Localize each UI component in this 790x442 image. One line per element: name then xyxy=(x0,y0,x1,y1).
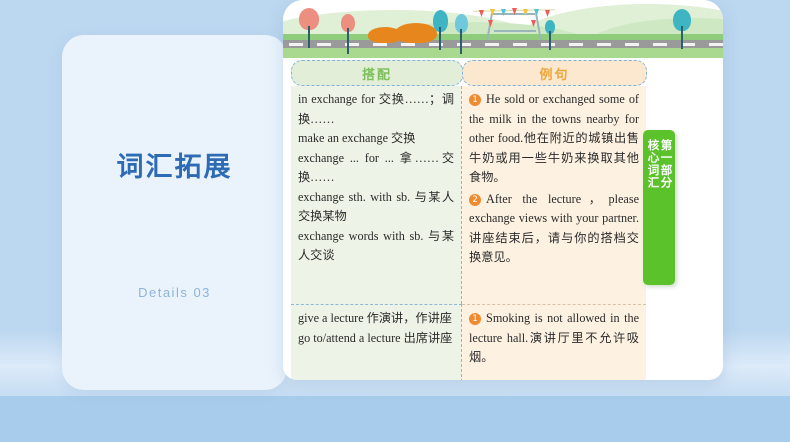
tree-icon xyxy=(455,14,468,40)
vocabulary-table: 搭配 例句 in exchange for 交换……；调换…… make an … xyxy=(291,60,646,380)
grass-lower-band xyxy=(283,48,723,58)
road-dash xyxy=(681,43,695,46)
section-side-tab[interactable]: 第一部分 核心词汇 xyxy=(643,130,675,285)
road-dash xyxy=(485,43,499,46)
side-tab-line-2: 核心词汇 xyxy=(647,139,660,189)
column-header-collocation: 搭配 xyxy=(291,60,463,86)
cell-collocation: in exchange for 交换……；调换…… make an exchan… xyxy=(291,86,462,304)
road-dash xyxy=(289,43,303,46)
table-row: in exchange for 交换……；调换…… make an exchan… xyxy=(291,86,646,304)
table-row: give a lecture 作演讲，作讲座 go to/attend a le… xyxy=(291,304,646,380)
tree-icon xyxy=(545,20,555,40)
example-item: 1He sold or exchanged some of the milk i… xyxy=(469,90,639,188)
road-dash xyxy=(625,43,639,46)
page-subtitle: Details 03 xyxy=(62,285,287,300)
swing-cross-bar xyxy=(494,30,536,32)
example-number-badge: 1 xyxy=(469,94,481,106)
page-background-lower xyxy=(0,396,790,442)
column-header-examples: 例句 xyxy=(462,60,647,86)
page-title: 词汇拓展 xyxy=(62,145,287,184)
example-en: After the lecture，please exchange views … xyxy=(469,192,639,226)
example-item: 1Smoking is not allowed in the lecture h… xyxy=(469,309,639,368)
example-number-badge: 2 xyxy=(469,194,481,206)
tree-icon xyxy=(673,9,691,40)
tree-icon xyxy=(299,8,319,40)
example-zh: 讲座结束后，请与你的搭档交换意见。 xyxy=(469,231,639,265)
example-item: 2After the lecture，please exchange views… xyxy=(469,190,639,268)
road-dash xyxy=(709,43,723,46)
table-header-row: 搭配 例句 xyxy=(291,60,646,86)
illustration-banner xyxy=(283,0,723,58)
example-number-badge: 1 xyxy=(469,313,481,325)
road-dash xyxy=(653,43,667,46)
road-dash xyxy=(317,43,331,46)
bush-icon xyxy=(395,23,437,43)
tree-icon xyxy=(341,14,355,40)
road-dash xyxy=(569,43,583,46)
cell-examples: 1He sold or exchanged some of the milk i… xyxy=(462,86,646,304)
side-tab-line-1: 第一部分 xyxy=(660,139,673,189)
cell-examples: 1Smoking is not allowed in the lecture h… xyxy=(462,304,646,380)
road-dash xyxy=(597,43,611,46)
road-dash xyxy=(541,43,555,46)
tree-icon xyxy=(433,10,448,40)
left-section-card: 词汇拓展 Details 03 xyxy=(62,35,287,390)
road-dash xyxy=(513,43,527,46)
cell-collocation: give a lecture 作演讲，作讲座 go to/attend a le… xyxy=(291,304,462,380)
